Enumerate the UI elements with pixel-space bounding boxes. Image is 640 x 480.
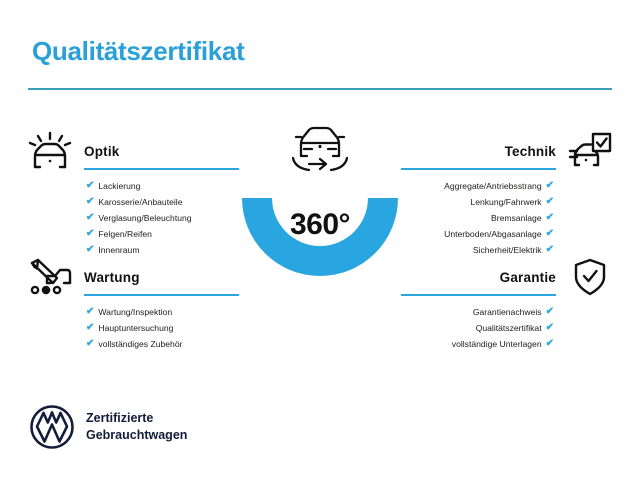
car-service-pencil-icon: [24, 256, 76, 298]
car-checkbox-icon: [564, 130, 616, 172]
list-item-label: Felgen/Reifen: [98, 226, 152, 242]
brand-line-2: Gebrauchtwagen: [86, 427, 187, 444]
list-item-label: Hauptuntersuchung: [98, 320, 173, 336]
brand-text: Zertifizierte Gebrauchtwagen: [86, 410, 187, 444]
badge-degrees-label: 360°: [222, 208, 418, 242]
section-garantie: Garantie ✔Garantienachweis ✔Qualitätszer…: [384, 256, 616, 302]
car-rotate-icon: [279, 120, 361, 176]
check-icon: ✔: [86, 197, 94, 207]
car-shine-icon: [24, 130, 76, 172]
list-item-label: Garantienachweis: [473, 304, 542, 320]
section-header: Technik: [384, 130, 616, 176]
section-title: Garantie: [500, 270, 556, 285]
section-header: Garantie: [384, 256, 616, 302]
list-item: ✔Wartung/Inspektion: [24, 304, 256, 320]
check-icon: ✔: [86, 323, 94, 333]
list-item: ✔vollständiges Zubehör: [24, 336, 256, 352]
list-item-label: Bremsanlage: [491, 210, 542, 226]
checklist-technik: ✔Aggregate/Antriebsstrang ✔Lenkung/Fahrw…: [384, 178, 616, 258]
section-technik: Technik ✔Aggregate/Antriebsstrang ✔Lenku…: [384, 130, 616, 176]
section-divider: [401, 168, 556, 170]
section-title: Optik: [84, 144, 120, 159]
check-icon: ✔: [546, 213, 554, 223]
list-item-label: Qualitätszertifikat: [476, 320, 542, 336]
check-icon: ✔: [546, 307, 554, 317]
list-item-label: Karosserie/Anbauteile: [98, 194, 182, 210]
check-icon: ✔: [86, 213, 94, 223]
check-icon: ✔: [86, 181, 94, 191]
section-divider: [401, 294, 556, 296]
list-item-label: Verglasung/Beleuchtung: [98, 210, 191, 226]
checklist-wartung: ✔Wartung/Inspektion ✔Hauptuntersuchung ✔…: [24, 304, 256, 352]
check-icon: ✔: [546, 197, 554, 207]
brand-line-1: Zertifizierte: [86, 410, 187, 427]
list-item: ✔vollständige Unterlagen: [384, 336, 616, 352]
section-divider: [84, 294, 239, 296]
list-item: ✔Bremsanlage: [384, 210, 616, 226]
check-icon: ✔: [86, 339, 94, 349]
check-icon: ✔: [86, 245, 94, 255]
check-icon: ✔: [546, 229, 554, 239]
check-icon: ✔: [86, 229, 94, 239]
list-item: ✔Lenkung/Fahrwerk: [384, 194, 616, 210]
list-item: ✔Hauptuntersuchung: [24, 320, 256, 336]
section-divider: [84, 168, 239, 170]
list-item-label: vollständige Unterlagen: [452, 336, 542, 352]
section-title: Wartung: [84, 270, 140, 285]
list-item: ✔Garantienachweis: [384, 304, 616, 320]
page-title: Qualitätszertifikat: [32, 36, 244, 67]
list-item: ✔Aggregate/Antriebsstrang: [384, 178, 616, 194]
brand-lockup: Zertifizierte Gebrauchtwagen: [30, 405, 187, 449]
list-item: ✔Qualitätszertifikat: [384, 320, 616, 336]
section-title: Technik: [505, 144, 556, 159]
check-icon: ✔: [546, 181, 554, 191]
list-item-label: Unterboden/Abgasanlage: [444, 226, 541, 242]
check-icon: ✔: [546, 323, 554, 333]
list-item-label: Aggregate/Antriebsstrang: [444, 178, 541, 194]
check-icon: ✔: [546, 245, 554, 255]
shield-check-icon: [564, 256, 616, 298]
title-divider: [28, 88, 612, 90]
vw-logo: [30, 405, 74, 449]
checklist-garantie: ✔Garantienachweis ✔Qualitätszertifikat ✔…: [384, 304, 616, 352]
check-icon: ✔: [546, 339, 554, 349]
list-item-label: Lenkung/Fahrwerk: [470, 194, 541, 210]
list-item: ✔Unterboden/Abgasanlage: [384, 226, 616, 242]
list-item-label: Lackierung: [98, 178, 140, 194]
badge-360-gebrauchtwagen-check: Gebrauchtwagen-Check 360°: [222, 120, 418, 302]
list-item-label: Wartung/Inspektion: [98, 304, 172, 320]
list-item-label: vollständiges Zubehör: [98, 336, 182, 352]
check-icon: ✔: [86, 307, 94, 317]
